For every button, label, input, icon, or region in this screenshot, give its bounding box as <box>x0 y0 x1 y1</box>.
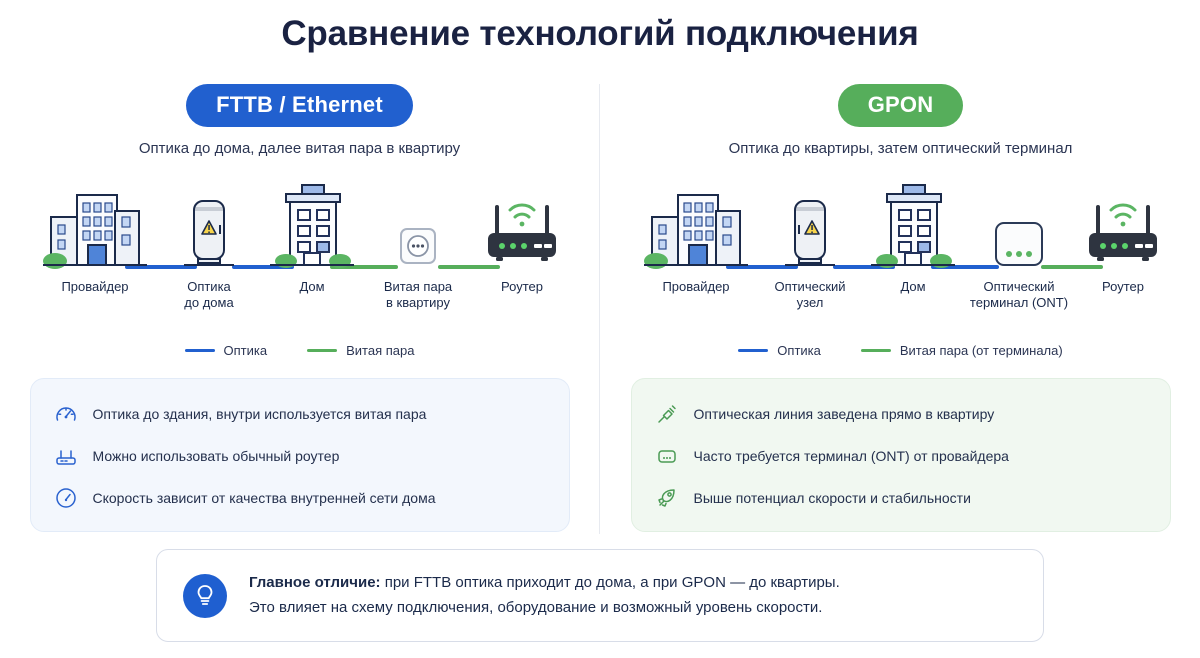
node-label: Дом <box>252 279 372 295</box>
callout-bold: Главное отличие: <box>249 574 381 591</box>
street-cabinet-icon <box>750 177 870 273</box>
features-panel-fttb: Оптика до здания, внутри используется ви… <box>30 378 570 532</box>
feature-item: Можно использовать обычный роутер <box>31 435 569 477</box>
node-provider-fttb[interactable]: Провайдер <box>35 177 155 295</box>
node-label-line1: Витая пара <box>384 279 452 294</box>
node-label: Оптика до дома <box>149 279 269 312</box>
feature-text: Оптика до здания, внутри используется ви… <box>93 406 427 422</box>
wall-socket-icon <box>358 177 478 273</box>
provider-building-icon <box>636 177 756 273</box>
legend-fttb: Оптика Витая пара <box>0 343 599 358</box>
legend-label-utp: Витая пара (от терминала) <box>900 343 1063 358</box>
feature-item: Оптическая линия заведена прямо в кварти… <box>632 393 1170 435</box>
infographic-page: Сравнение технологий подключения FTTB / … <box>0 0 1200 658</box>
column-divider <box>599 84 600 534</box>
subtitle-gpon: Оптика до квартиры, затем оптический тер… <box>601 140 1200 157</box>
legend-gpon: Оптика Витая пара (от терминала) <box>601 343 1200 358</box>
legend-label-utp: Витая пара <box>346 343 414 358</box>
provider-building-icon <box>35 177 155 273</box>
node-label: Оптический терминал (ONT) <box>959 279 1079 312</box>
node-label-line2: терминал (ONT) <box>970 295 1068 310</box>
rocket-icon <box>654 485 680 511</box>
legend-swatch-optic <box>738 349 768 352</box>
node-house-fttb[interactable]: Дом <box>252 177 372 295</box>
callout-line-1: Главное отличие: при FTTB оптика приходи… <box>249 571 840 595</box>
callout-text: Главное отличие: при FTTB оптика приходи… <box>249 571 840 620</box>
node-label: Роутер <box>1063 279 1183 295</box>
node-label: Дом <box>853 279 973 295</box>
node-label: Провайдер <box>636 279 756 295</box>
node-label-line2: узел <box>797 295 824 310</box>
feature-item: Скорость зависит от качества внутренней … <box>31 477 569 519</box>
node-ont-gpon[interactable]: Оптический терминал (ONT) <box>959 177 1079 312</box>
node-label: Витая пара в квартиру <box>358 279 478 312</box>
speedometer-icon <box>53 401 79 427</box>
fiber-plug-icon <box>654 401 680 427</box>
callout-line1-rest: при FTTB оптика приходит до дома, а при … <box>381 574 840 591</box>
gauge-icon <box>53 485 79 511</box>
node-router-gpon[interactable]: Роутер <box>1063 177 1183 295</box>
badge-gpon[interactable]: GPON <box>838 84 964 127</box>
column-gpon: GPON Оптика до квартиры, затем оптически… <box>601 84 1200 544</box>
apartment-building-icon <box>853 177 973 273</box>
badge-wrap-gpon: GPON <box>601 84 1200 127</box>
feature-item: Выше потенциал скорости и стабильности <box>632 477 1170 519</box>
node-provider-gpon[interactable]: Провайдер <box>636 177 756 295</box>
badge-fttb[interactable]: FTTB / Ethernet <box>186 84 413 127</box>
legend-item-optic: Оптика <box>738 343 821 358</box>
node-label-line1: Оптика <box>187 279 231 294</box>
feature-item: Часто требуется терминал (ONT) от провай… <box>632 435 1170 477</box>
node-house-gpon[interactable]: Дом <box>853 177 973 295</box>
callout-line-2: Это влияет на схему подключения, оборудо… <box>249 596 840 620</box>
lightbulb-icon <box>183 574 227 618</box>
feature-text: Выше потенциал скорости и стабильности <box>694 490 971 506</box>
feature-item: Оптика до здания, внутри используется ви… <box>31 393 569 435</box>
page-title: Сравнение технологий подключения <box>0 14 1200 54</box>
column-fttb: FTTB / Ethernet Оптика до дома, далее ви… <box>0 84 599 544</box>
router-icon <box>462 177 582 273</box>
node-optical-node-gpon[interactable]: Оптический узел <box>750 177 870 312</box>
legend-item-utp: Витая пара <box>307 343 414 358</box>
node-router-fttb[interactable]: Роутер <box>462 177 582 295</box>
router-icon <box>53 443 79 469</box>
node-cabinet-fttb[interactable]: Оптика до дома <box>149 177 269 312</box>
diagram-gpon: Провайдер Оптический узел <box>601 177 1200 327</box>
node-label-line2: до дома <box>184 295 233 310</box>
features-panel-gpon: Оптическая линия заведена прямо в кварти… <box>631 378 1171 532</box>
subtitle-fttb: Оптика до дома, далее витая пара в кварт… <box>0 140 599 157</box>
router-icon <box>1063 177 1183 273</box>
legend-label-optic: Оптика <box>777 343 821 358</box>
feature-text: Часто требуется терминал (ONT) от провай… <box>694 448 1009 464</box>
legend-item-optic: Оптика <box>185 343 268 358</box>
node-label: Провайдер <box>35 279 155 295</box>
street-cabinet-icon <box>149 177 269 273</box>
node-label-line1: Оптический <box>774 279 845 294</box>
diagram-fttb: Провайдер Оптика д <box>0 177 599 327</box>
key-difference-callout: Главное отличие: при FTTB оптика приходи… <box>156 549 1044 642</box>
ont-terminal-icon <box>959 177 1079 273</box>
feature-text: Можно использовать обычный роутер <box>93 448 340 464</box>
node-label: Оптический узел <box>750 279 870 312</box>
feature-text: Оптическая линия заведена прямо в кварти… <box>694 406 995 422</box>
node-socket-fttb[interactable]: Витая пара в квартиру <box>358 177 478 312</box>
feature-text: Скорость зависит от качества внутренней … <box>93 490 436 506</box>
node-label: Роутер <box>462 279 582 295</box>
badge-wrap-fttb: FTTB / Ethernet <box>0 84 599 127</box>
legend-swatch-utp <box>307 349 337 352</box>
legend-item-utp: Витая пара (от терминала) <box>861 343 1063 358</box>
ont-terminal-icon <box>654 443 680 469</box>
apartment-building-icon <box>252 177 372 273</box>
node-label-line2: в квартиру <box>386 295 450 310</box>
legend-swatch-utp <box>861 349 891 352</box>
legend-swatch-optic <box>185 349 215 352</box>
legend-label-optic: Оптика <box>224 343 268 358</box>
node-label-line1: Оптический <box>983 279 1054 294</box>
